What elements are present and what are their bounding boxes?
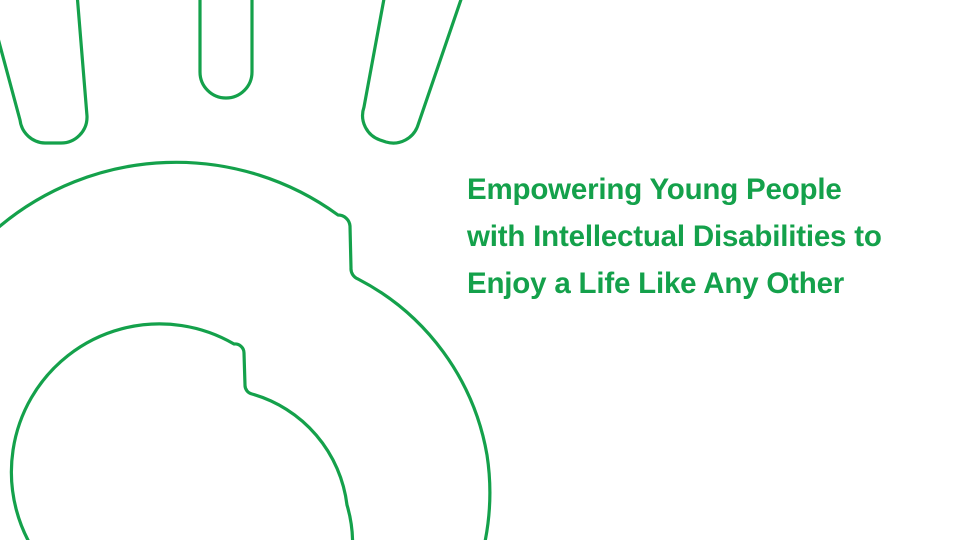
headline-line-1: Empowering Young People [467,166,907,213]
inner-ring-arc [11,324,352,540]
ray-left-icon [0,0,87,143]
headline-line-3: Enjoy a Life Like Any Other [467,260,907,307]
headline-line-2: with Intellectual Disabilities to [467,213,907,260]
ray-right-icon [363,0,480,143]
ray-center-icon [200,0,252,98]
ray-group [0,0,480,143]
slide-canvas: Empowering Young People with Intellectua… [0,0,960,540]
page-title: Empowering Young People with Intellectua… [467,166,907,307]
outer-ring-arc [0,162,490,540]
